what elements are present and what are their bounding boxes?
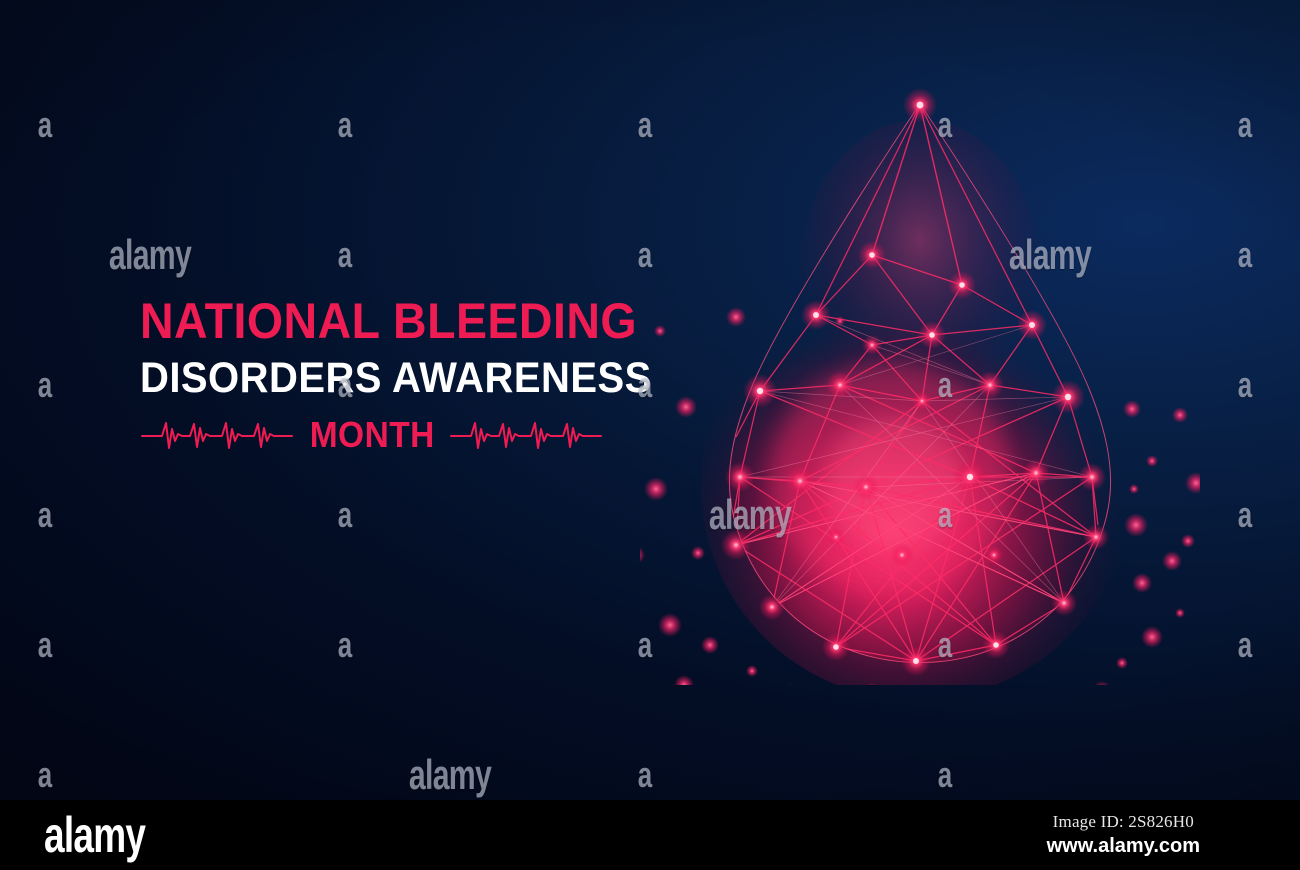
watermark-letter: a <box>338 104 352 146</box>
heartbeat-line-icon <box>140 415 295 455</box>
alamy-logo: alamy <box>44 806 145 864</box>
watermark-letter: a <box>338 494 352 536</box>
watermark-word: alamy <box>409 751 491 799</box>
watermark-letter: a <box>938 754 952 796</box>
blood-drop-icon <box>640 85 1200 685</box>
heartbeat-line-icon <box>449 415 604 455</box>
watermark-letter: a <box>338 624 352 666</box>
watermark-word: alamy <box>109 231 191 279</box>
watermark-letter: a <box>1238 104 1252 146</box>
banner-artwork: NATIONAL BLEEDING DISORDERS AWARENESS MO… <box>0 0 1300 800</box>
watermark-letter: a <box>1238 494 1252 536</box>
watermark-letter: a <box>1238 364 1252 406</box>
watermark-letter: a <box>38 104 52 146</box>
headline-line-2: DISORDERS AWARENESS <box>140 357 596 400</box>
alamy-footer-bar: alamy Image ID: 2S826H0 www.alamy.com <box>0 800 1300 870</box>
watermark-letter: a <box>1238 234 1252 276</box>
headline-line-1: NATIONAL BLEEDING <box>140 296 596 346</box>
alamy-url: www.alamy.com <box>1047 835 1200 858</box>
headline-line-3-row: MONTH <box>140 414 630 456</box>
image-id-label: Image ID: 2S826H0 <box>1047 812 1200 832</box>
watermark-letter: a <box>38 494 52 536</box>
headline-line-3: MONTH <box>310 414 435 456</box>
watermark-letter: a <box>338 234 352 276</box>
headline-block: NATIONAL BLEEDING DISORDERS AWARENESS MO… <box>140 296 630 456</box>
watermark-letter: a <box>38 624 52 666</box>
watermark-letter: a <box>1238 624 1252 666</box>
footer-meta: Image ID: 2S826H0 www.alamy.com <box>1047 812 1200 858</box>
screenshot-root: NATIONAL BLEEDING DISORDERS AWARENESS MO… <box>0 0 1300 870</box>
watermark-letter: a <box>38 364 52 406</box>
watermark-letter: a <box>638 754 652 796</box>
watermark-letter: a <box>38 754 52 796</box>
